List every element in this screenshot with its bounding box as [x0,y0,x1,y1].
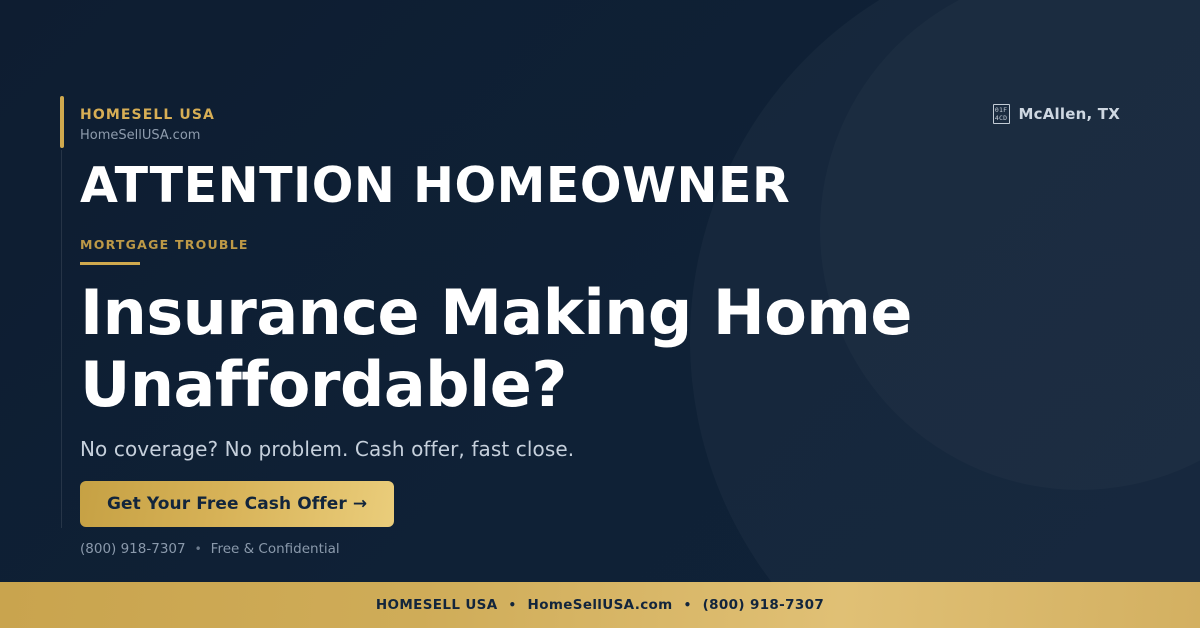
brand-website: HomeSellUSA.com [80,128,215,145]
gold-accent-bar [60,96,64,148]
eyebrow-underline [80,262,140,265]
ad-content: HOMESELL USA HomeSellUSA.com 01F 4CD McA… [80,0,1120,628]
vertical-rail-line [61,150,62,528]
footer-phone[interactable]: (800) 918-7307 [703,597,824,613]
get-free-cash-offer-button[interactable]: Get Your Free Cash Offer → [80,481,394,527]
footer-separator-2: • [684,598,692,612]
contact-note: Free & Confidential [211,541,340,557]
contact-phone[interactable]: (800) 918-7307 [80,541,186,557]
location-pin-icon: 01F 4CD [993,104,1010,124]
location-badge: 01F 4CD McAllen, TX [993,104,1120,124]
tofu-top-digits: 01F [995,106,1007,114]
eyebrow-label: MORTGAGE TROUBLE [80,237,249,252]
location-label: McAllen, TX [1019,105,1120,123]
ad-banner: HOMESELL USA HomeSellUSA.com 01F 4CD McA… [0,0,1200,628]
brand-block: HOMESELL USA HomeSellUSA.com [80,106,215,145]
tofu-bottom-digits: 4CD [995,114,1007,122]
brand-name: HOMESELL USA [80,106,215,124]
footer-bar: HOMESELL USA • HomeSellUSA.com • (800) 9… [0,582,1200,628]
footer-separator-1: • [509,598,517,612]
contact-separator: • [195,542,202,556]
attention-line: ATTENTION HOMEOWNER [80,160,790,212]
contact-line: (800) 918-7307 • Free & Confidential [80,541,340,557]
subheadline: No coverage? No problem. Cash offer, fas… [80,437,574,461]
footer-website[interactable]: HomeSellUSA.com [528,597,673,613]
footer-brand: HOMESELL USA [376,597,498,613]
page-title: Insurance Making Home Unaffordable? [80,277,1040,421]
